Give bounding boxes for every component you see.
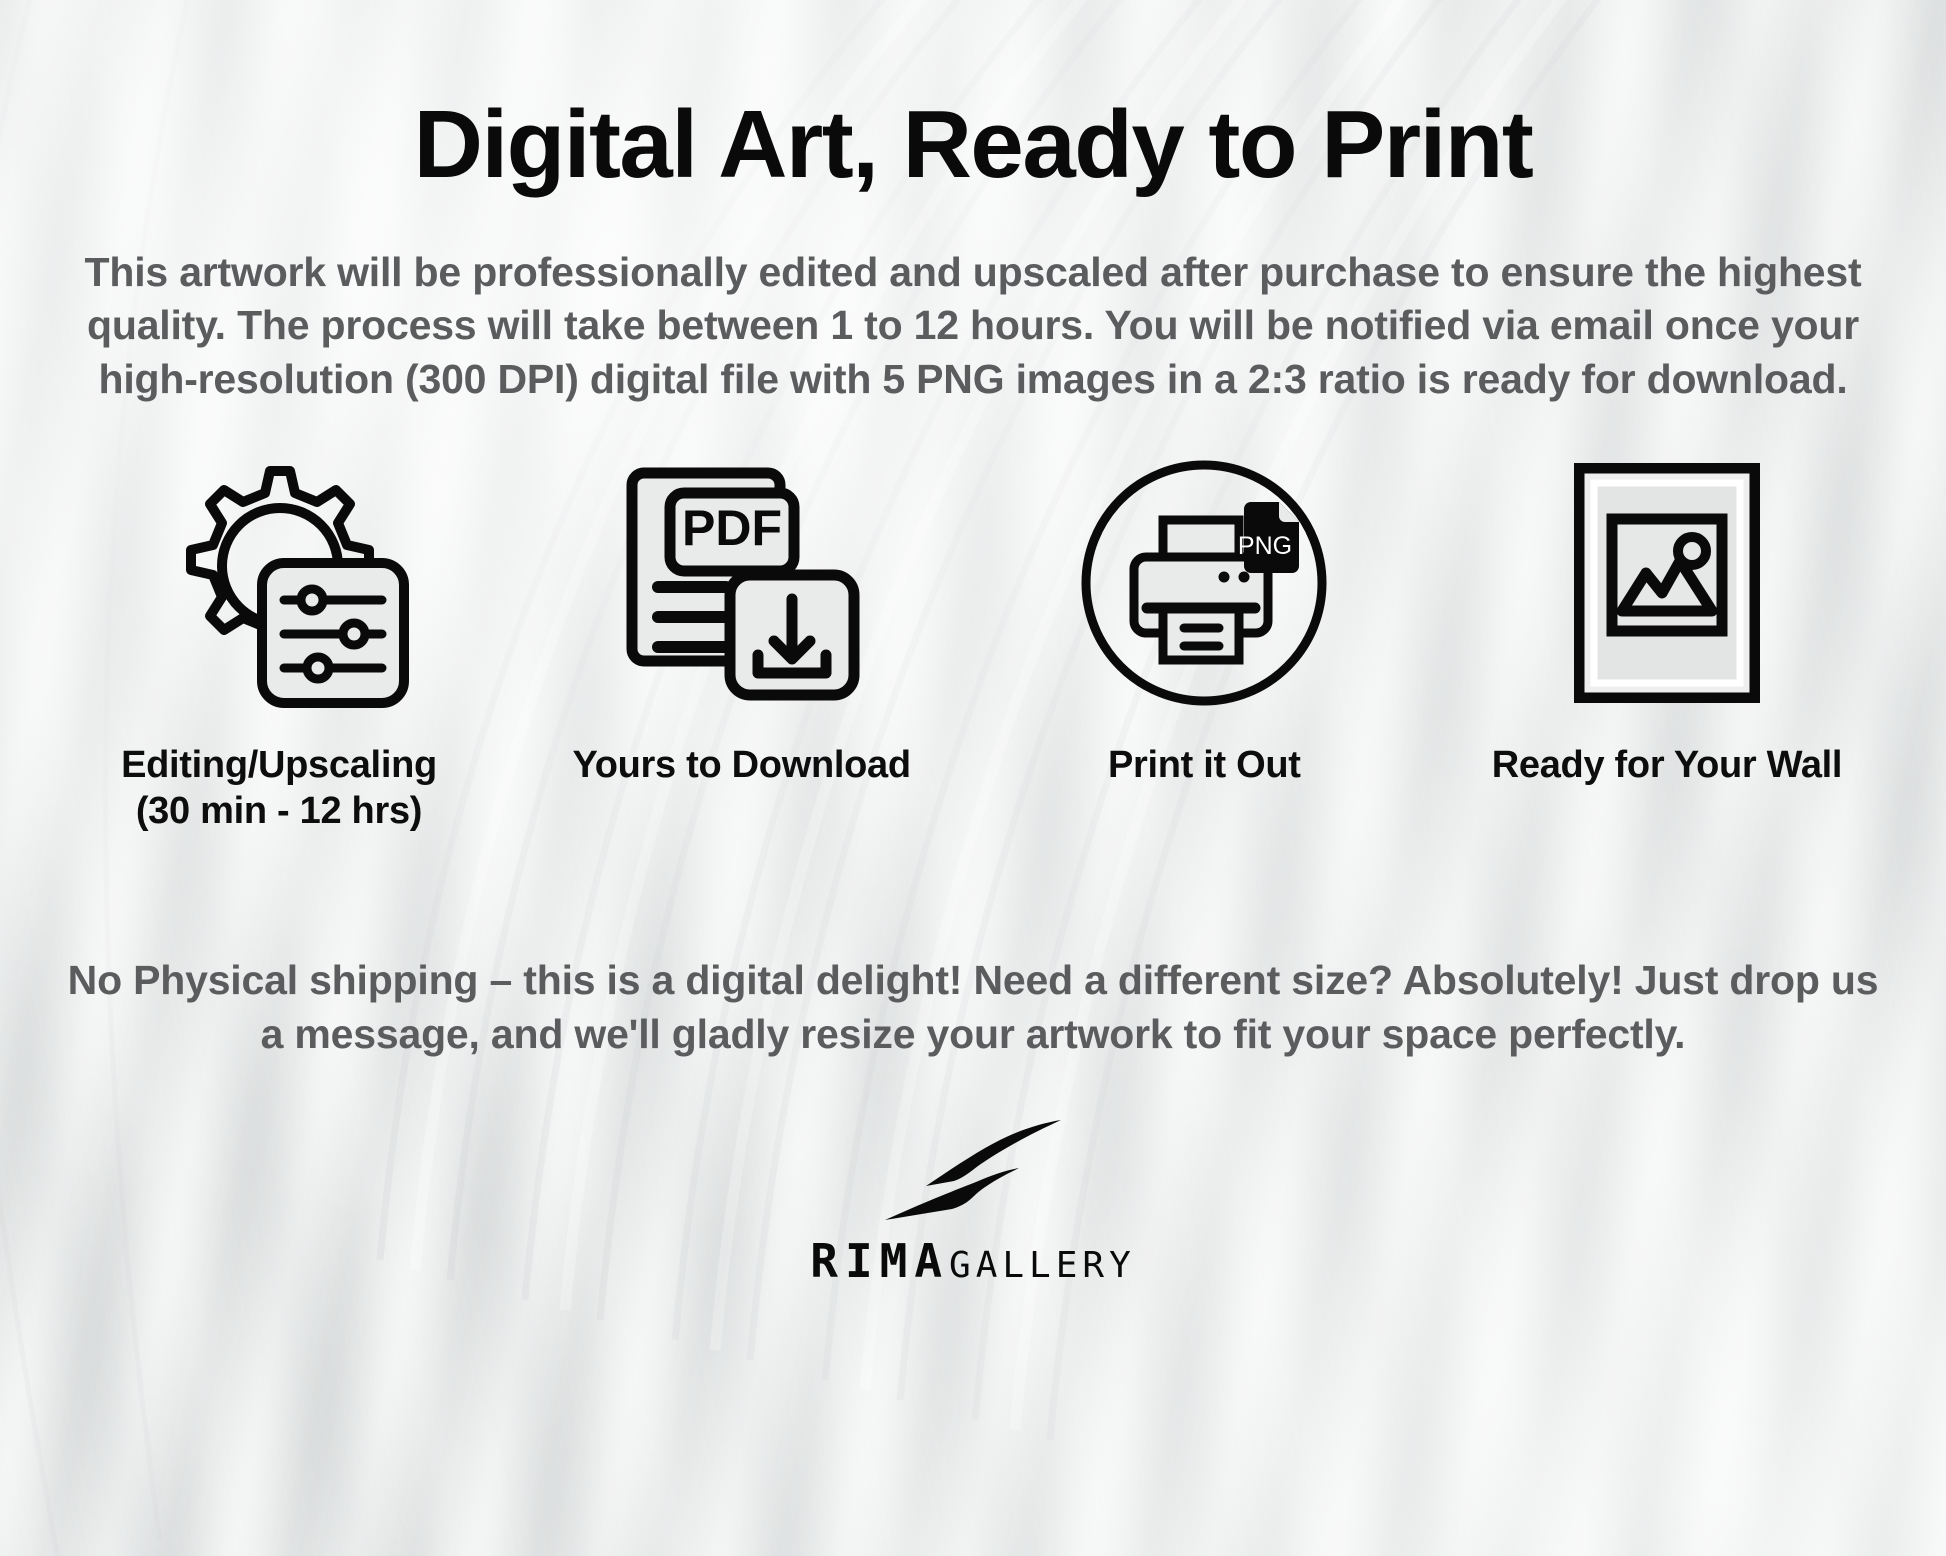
brand-logo: RIMA GALLERY (773, 1062, 1173, 1288)
png-badge-text: PNG (1238, 532, 1292, 560)
feature-label: Editing/Upscaling (30 min - 12 hrs) (121, 742, 437, 835)
pdf-badge-text: PDF (682, 500, 782, 556)
logo-word-secondary: GALLERY (949, 1245, 1136, 1286)
framed-picture-icon (1574, 448, 1760, 718)
poster-content: Digital Art, Ready to Print This artwork… (0, 0, 1946, 1556)
printer-in-circle-icon: PNG (1079, 448, 1329, 718)
feature-label: Yours to Download (573, 742, 911, 788)
feature-label: Print it Out (1108, 742, 1301, 788)
rima-swoosh-mark-icon (858, 1108, 1088, 1226)
logo-word-primary: RIMA (810, 1234, 949, 1288)
page-title: Digital Art, Ready to Print (46, 0, 1900, 194)
intro-paragraph: This artwork will be professionally edit… (58, 194, 1888, 406)
poster-canvas: Digital Art, Ready to Print This artwork… (0, 0, 1946, 1556)
feature-item-yours-to-download: PDF Yours to Download (512, 448, 972, 788)
feature-item-editing-upscaling: Editing/Upscaling (30 min - 12 hrs) (49, 448, 509, 835)
feature-label: Ready for Your Wall (1492, 742, 1842, 788)
pdf-document-download-icon: PDF (618, 448, 866, 718)
feature-row: Editing/Upscaling (30 min - 12 hrs) PDF (49, 406, 1897, 835)
logo-wordmark: RIMA GALLERY (810, 1234, 1136, 1288)
gear-settings-sliders-icon (146, 448, 412, 718)
bottom-note: No Physical shipping – this is a digital… (58, 835, 1888, 1063)
feature-item-ready-for-your-wall: Ready for Your Wall (1437, 448, 1897, 788)
feature-item-print-it-out: PNG Print it Out (974, 448, 1434, 788)
png-file-badge: PNG (1238, 502, 1299, 573)
